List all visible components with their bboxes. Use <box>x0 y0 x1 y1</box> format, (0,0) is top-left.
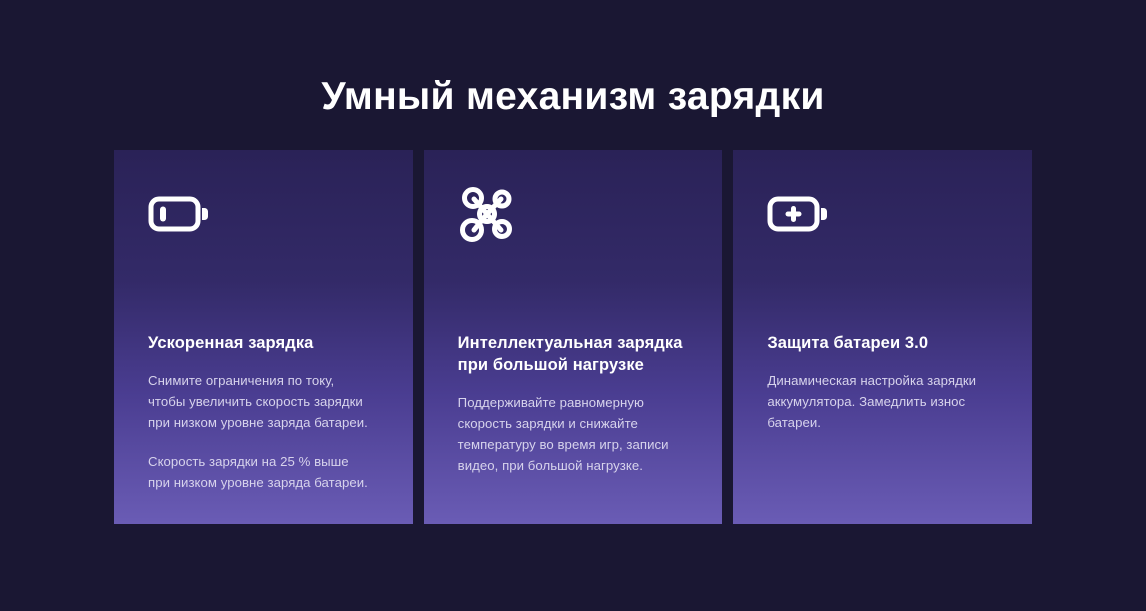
page-root: Умный механизм зарядки Ускоренная зарядк… <box>0 0 1146 611</box>
battery-plus-icon <box>767 184 839 244</box>
card-paragraph: Поддерживайте равномерную скорость заряд… <box>458 392 699 476</box>
feature-card-smart-charging[interactable]: Интеллектуальная зарядка при большой наг… <box>424 150 723 524</box>
card-paragraph: Снимите ограничения по току, чтобы увели… <box>148 370 389 433</box>
feature-card-accelerated-charging[interactable]: Ускоренная зарядка Снимите ограничения п… <box>114 150 413 524</box>
feature-card-battery-protection[interactable]: Защита батареи 3.0 Динамическая настройк… <box>733 150 1032 524</box>
card-heading: Интеллектуальная зарядка при большой наг… <box>458 332 699 376</box>
card-body: Интеллектуальная зарядка при большой наг… <box>458 332 699 476</box>
page-title: Умный механизм зарядки <box>0 73 1146 121</box>
battery-low-icon <box>148 184 220 244</box>
card-body: Ускоренная зарядка Снимите ограничения п… <box>148 332 389 493</box>
chip-nodes-icon <box>458 184 530 244</box>
card-paragraph: Скорость зарядки на 25 % выше при низком… <box>148 451 389 493</box>
card-paragraph: Динамическая настройка зарядки аккумулят… <box>767 370 1008 433</box>
card-heading: Защита батареи 3.0 <box>767 332 1008 354</box>
feature-card-list: Ускоренная зарядка Снимите ограничения п… <box>114 150 1032 524</box>
card-heading: Ускоренная зарядка <box>148 332 389 354</box>
card-body: Защита батареи 3.0 Динамическая настройк… <box>767 332 1008 433</box>
